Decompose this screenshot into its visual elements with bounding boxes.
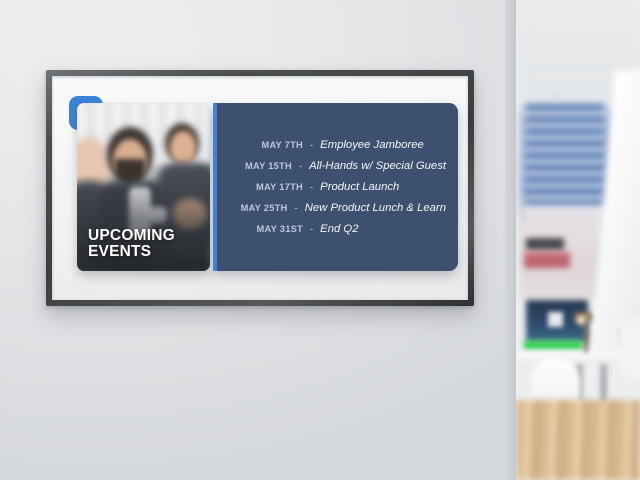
- event-separator: -: [292, 161, 309, 172]
- events-panel: MAY 7TH - Employee Jamboree MAY 15TH - A…: [213, 103, 458, 271]
- event-row: MAY 15TH - All-Hands w/ Special Guest: [223, 160, 446, 172]
- slide-title: UPCOMING EVENTS: [88, 228, 202, 259]
- event-date: MAY 7TH: [223, 140, 303, 150]
- event-row: MAY 25TH - New Product Lunch & Learn: [223, 202, 446, 214]
- slide-canvas: UPCOMING EVENTS MAY 7TH - Employee Jambo…: [54, 78, 466, 298]
- slide-title-line-2: EVENTS: [88, 244, 202, 260]
- depth-of-field-blur: [516, 0, 640, 480]
- event-row: MAY 31ST - End Q2: [223, 223, 446, 235]
- event-separator: -: [303, 182, 320, 193]
- event-date: MAY 25TH: [223, 203, 288, 213]
- office-scene: UPCOMING EVENTS MAY 7TH - Employee Jambo…: [0, 0, 640, 480]
- photo-card: UPCOMING EVENTS: [77, 103, 210, 271]
- event-name: New Product Lunch & Learn: [305, 202, 446, 214]
- event-separator: -: [288, 203, 305, 214]
- event-name: End Q2: [320, 223, 358, 235]
- event-name: All-Hands w/ Special Guest: [309, 160, 446, 172]
- photo-person-face: [170, 131, 196, 165]
- event-date: MAY 17TH: [223, 182, 303, 192]
- event-separator: -: [303, 140, 320, 151]
- event-row: MAY 17TH - Product Launch: [223, 181, 446, 193]
- office-background: [516, 0, 640, 480]
- event-separator: -: [303, 224, 320, 235]
- event-name: Employee Jamboree: [320, 139, 424, 151]
- event-date: MAY 15TH: [223, 161, 292, 171]
- slide-title-line-1: UPCOMING: [88, 227, 175, 244]
- event-row: MAY 7TH - Employee Jamboree: [223, 139, 446, 151]
- events-list: MAY 7TH - Employee Jamboree MAY 15TH - A…: [217, 103, 458, 271]
- event-name: Product Launch: [320, 181, 399, 193]
- event-date: MAY 31ST: [223, 224, 303, 234]
